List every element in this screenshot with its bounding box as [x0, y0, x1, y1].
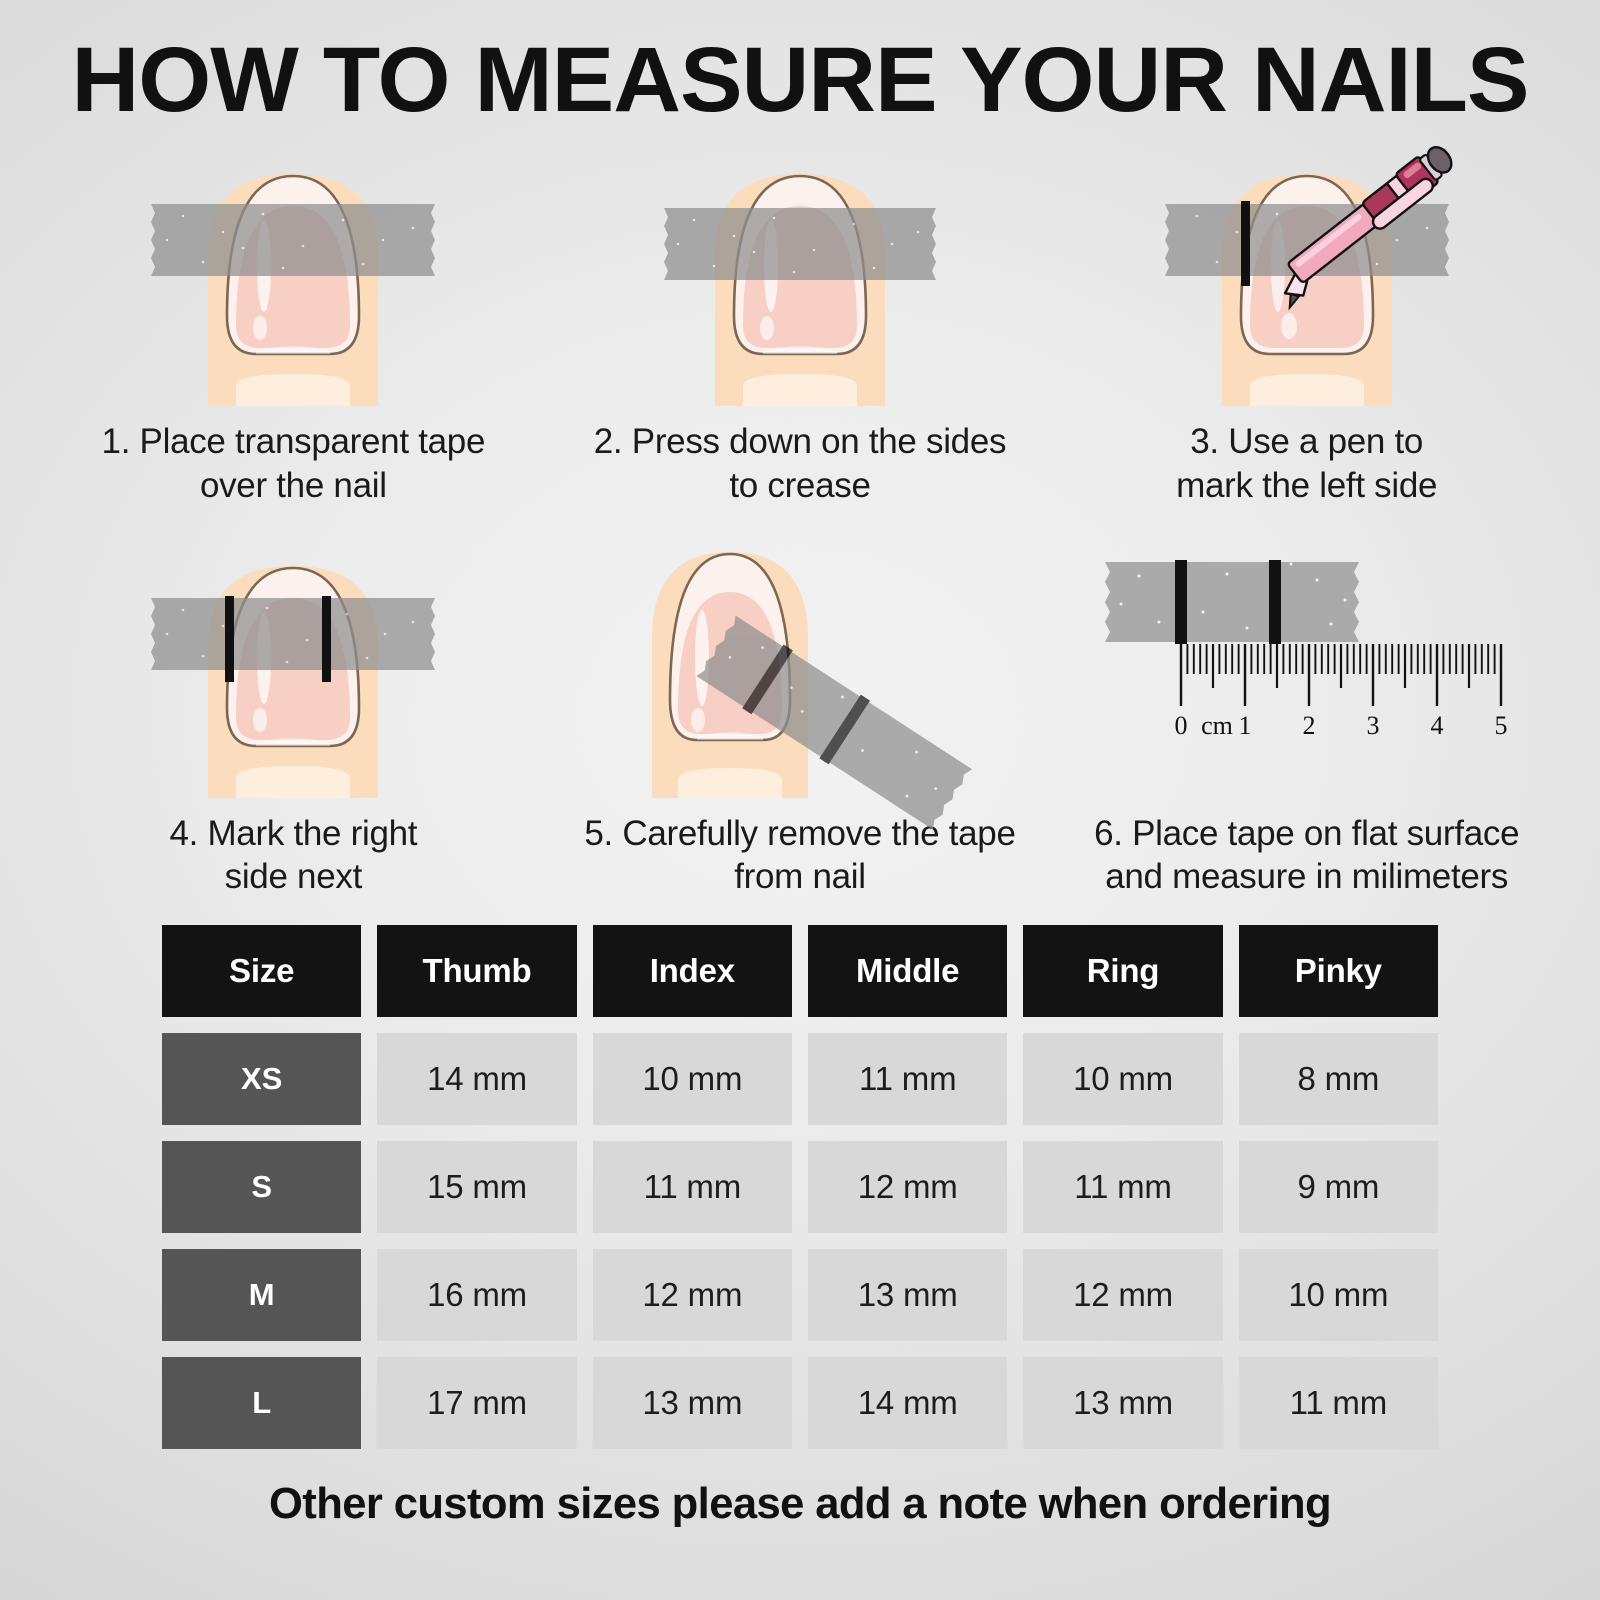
- table-header-index: Index: [593, 925, 792, 1017]
- step-3: 3. Use a pen to mark the left side: [1053, 136, 1560, 508]
- table-row-size-label: XS: [162, 1033, 361, 1125]
- step-4-caption-line2: side next: [40, 855, 547, 899]
- table-cell: 11 mm: [1239, 1357, 1438, 1449]
- left-mark: [1241, 201, 1250, 286]
- ruler-ticks: [1181, 644, 1501, 706]
- step-1: 1. Place transparent tape over the nail: [40, 136, 547, 508]
- table-cell: 10 mm: [1239, 1249, 1438, 1341]
- tape-on-ruler-graphic: 0 cm 1 2 3 4 5: [1087, 518, 1527, 798]
- table-cell: 11 mm: [808, 1033, 1007, 1125]
- ruler-label-4: 4: [1430, 711, 1443, 740]
- step-5-caption-line2: from nail: [547, 855, 1054, 899]
- right-mark: [322, 596, 331, 682]
- ruler-label-1: 1: [1238, 711, 1251, 740]
- tape: [1105, 560, 1359, 644]
- table-header-size: Size: [162, 925, 361, 1017]
- table-cell: 10 mm: [593, 1033, 792, 1125]
- finger-tape-pen-left-mark-graphic: [1137, 136, 1477, 406]
- step-1-caption: 1. Place transparent tape over the nail: [40, 420, 547, 508]
- table-cell: 12 mm: [808, 1141, 1007, 1233]
- right-mark: [1269, 560, 1281, 644]
- step-5: 5. Carefully remove the tape from nail: [547, 518, 1054, 900]
- step-4-illustration: [40, 518, 547, 798]
- table-cell: 14 mm: [377, 1033, 576, 1125]
- step-2: 2. Press down on the sides to crease: [547, 136, 1054, 508]
- steps-grid-row-1: 1. Place transparent tape over the nail: [40, 136, 1560, 508]
- step-5-caption-line1: 5. Carefully remove the tape: [547, 812, 1054, 856]
- footer-note: Other custom sizes please add a note whe…: [8, 1479, 1592, 1529]
- table-row-size-label: M: [162, 1249, 361, 1341]
- table-cell: 17 mm: [377, 1357, 576, 1449]
- table-header-pinky: Pinky: [1239, 925, 1438, 1017]
- step-1-caption-line1: 1. Place transparent tape: [40, 420, 547, 464]
- table-cell: 10 mm: [1023, 1033, 1222, 1125]
- table-cell: 16 mm: [377, 1249, 576, 1341]
- left-mark: [1175, 560, 1187, 644]
- step-5-caption: 5. Carefully remove the tape from nail: [547, 812, 1054, 900]
- ruler-label-0: 0: [1174, 711, 1187, 740]
- table-cell: 11 mm: [1023, 1141, 1222, 1233]
- table-row-size-label: S: [162, 1141, 361, 1233]
- ruler-labels: 0 cm 1 2 3 4 5: [1174, 711, 1507, 740]
- step-3-caption: 3. Use a pen to mark the left side: [1053, 420, 1560, 508]
- table-cell: 9 mm: [1239, 1141, 1438, 1233]
- step-6-caption-line1: 6. Place tape on flat surface: [1053, 812, 1560, 856]
- step-3-caption-line2: mark the left side: [1053, 464, 1560, 508]
- table-cell: 12 mm: [593, 1249, 792, 1341]
- step-6: 0 cm 1 2 3 4 5 6. Place tape on flat sur…: [1053, 518, 1560, 900]
- finger-with-creased-tape-graphic: [630, 136, 970, 406]
- step-3-illustration: [1053, 136, 1560, 406]
- ruler-label-3: 3: [1366, 711, 1379, 740]
- tape: [664, 208, 936, 280]
- step-3-caption-line1: 3. Use a pen to: [1053, 420, 1560, 464]
- step-2-caption: 2. Press down on the sides to crease: [547, 420, 1054, 508]
- step-4: 4. Mark the right side next: [40, 518, 547, 900]
- table-header-middle: Middle: [808, 925, 1007, 1017]
- table-header-ring: Ring: [1023, 925, 1222, 1017]
- ruler-label-5: 5: [1494, 711, 1507, 740]
- step-1-illustration: [40, 136, 547, 406]
- ruler-label-2: 2: [1302, 711, 1315, 740]
- steps-grid-row-2: 4. Mark the right side next: [40, 518, 1560, 900]
- step-2-caption-line2: to crease: [547, 464, 1054, 508]
- table-cell: 11 mm: [593, 1141, 792, 1233]
- table-cell: 15 mm: [377, 1141, 576, 1233]
- step-4-caption-line1: 4. Mark the right: [40, 812, 547, 856]
- table-header-thumb: Thumb: [377, 925, 576, 1017]
- table-cell: 13 mm: [1023, 1357, 1222, 1449]
- finger-tape-two-marks-graphic: [123, 518, 463, 798]
- step-2-caption-line1: 2. Press down on the sides: [547, 420, 1054, 464]
- table-cell: 13 mm: [593, 1357, 792, 1449]
- finger-tape-peeled-off-graphic: [600, 518, 1000, 798]
- table-cell: 14 mm: [808, 1357, 1007, 1449]
- step-4-caption: 4. Mark the right side next: [40, 812, 547, 900]
- step-1-caption-line2: over the nail: [40, 464, 547, 508]
- ruler-unit-label: cm: [1201, 711, 1233, 740]
- table-cell: 13 mm: [808, 1249, 1007, 1341]
- left-mark: [225, 596, 234, 682]
- size-chart-table: Size Thumb Index Middle Ring Pinky XS 14…: [162, 925, 1438, 1449]
- table-row-size-label: L: [162, 1357, 361, 1449]
- step-5-illustration: [547, 518, 1054, 798]
- tape: [151, 598, 435, 670]
- step-6-caption: 6. Place tape on flat surface and measur…: [1053, 812, 1560, 900]
- step-6-caption-line2: and measure in milimeters: [1053, 855, 1560, 899]
- step-2-illustration: [547, 136, 1054, 406]
- step-6-illustration: 0 cm 1 2 3 4 5: [1053, 518, 1560, 798]
- tape: [151, 204, 435, 276]
- page-title: HOW TO MEASURE YOUR NAILS: [0, 0, 1600, 126]
- table-cell: 12 mm: [1023, 1249, 1222, 1341]
- finger-with-tape-graphic: [123, 136, 463, 406]
- table-cell: 8 mm: [1239, 1033, 1438, 1125]
